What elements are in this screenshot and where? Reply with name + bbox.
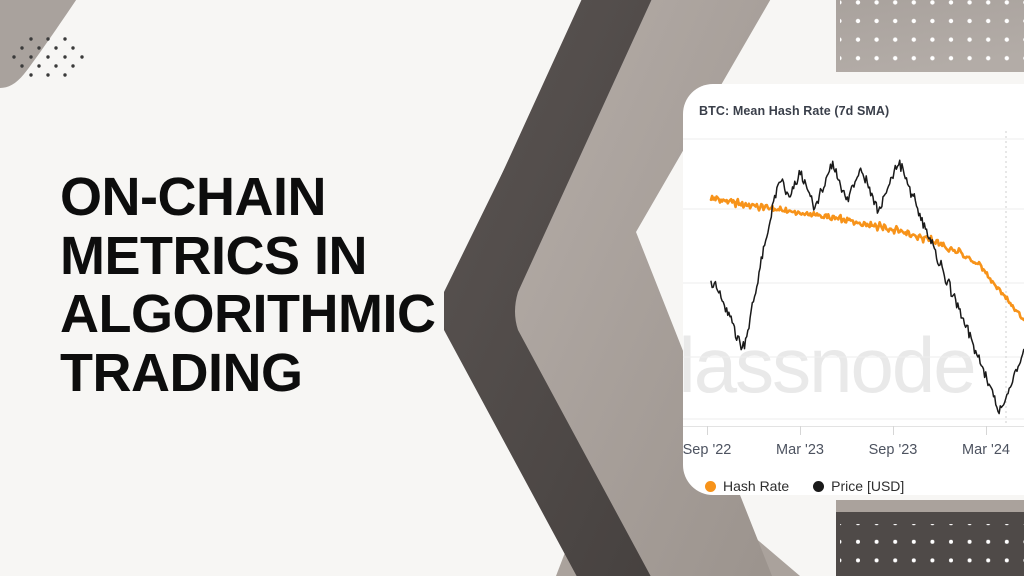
chart-x-axis: Sep '22Mar '23Sep '23Mar '24 bbox=[683, 426, 1024, 472]
top-right-dot-band bbox=[836, 0, 1024, 72]
chart-card: BTC: Mean Hash Rate (7d SMA) glassnode S… bbox=[683, 84, 1024, 495]
x-axis-tick bbox=[893, 426, 894, 435]
chart-title: BTC: Mean Hash Rate (7d SMA) bbox=[699, 104, 889, 118]
series-line bbox=[711, 157, 1024, 413]
legend-item[interactable]: Price [USD] bbox=[813, 478, 904, 494]
chart-plot-area: glassnode bbox=[683, 131, 1024, 426]
x-axis-tick bbox=[800, 426, 801, 435]
x-axis-tick bbox=[707, 426, 708, 435]
x-axis-label: Mar '24 bbox=[962, 442, 1010, 458]
legend-swatch-icon bbox=[813, 481, 824, 492]
slide-canvas: ON-CHAIN METRICS IN ALGORITHMIC TRADING … bbox=[0, 0, 1024, 576]
legend-swatch-icon bbox=[705, 481, 716, 492]
page-title: ON-CHAIN METRICS IN ALGORITHMIC TRADING bbox=[60, 168, 520, 402]
legend-label: Hash Rate bbox=[723, 478, 789, 494]
bottom-right-dot-band bbox=[836, 500, 1024, 576]
series-line bbox=[711, 196, 1024, 413]
x-axis-label: Mar '23 bbox=[776, 442, 824, 458]
chart-legend: Hash RatePrice [USD] bbox=[683, 472, 1024, 495]
chart-series-canvas bbox=[683, 131, 1024, 426]
legend-item[interactable]: Hash Rate bbox=[705, 478, 789, 494]
x-axis-label: Sep '23 bbox=[869, 442, 918, 458]
x-axis-tick bbox=[986, 426, 987, 435]
x-axis-line bbox=[683, 426, 1024, 427]
x-axis-label: Sep '22 bbox=[683, 442, 731, 458]
legend-label: Price [USD] bbox=[831, 478, 904, 494]
